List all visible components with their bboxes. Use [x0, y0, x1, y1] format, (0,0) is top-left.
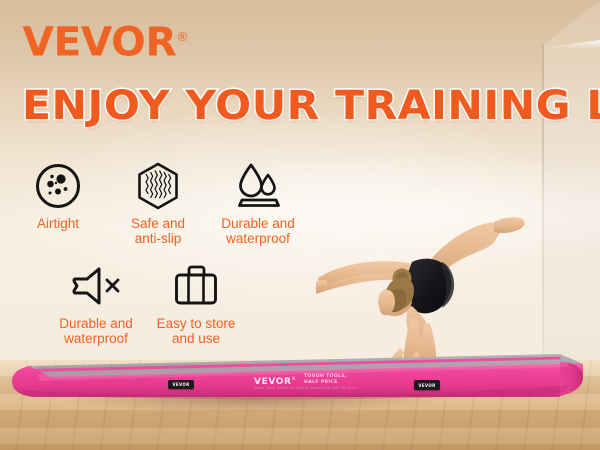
registered-trademark-icon: ® [176, 30, 188, 44]
feature-label: Easy to store and use [146, 316, 246, 346]
feature-row-2: Durable and waterproof Easy to store and… [0, 260, 320, 346]
mat-fine-print: Tough Tools, Half Price. Quality Product… [254, 386, 358, 390]
air-track-mat: VEVOR VEVOR VEVOR® TOUGH TOOLS, HALF PRI… [8, 352, 592, 408]
feature-list: Airtight [0, 160, 320, 346]
feature-label: Durable and waterproof [46, 316, 146, 346]
briefcase-icon [146, 260, 246, 312]
product-marketing-banner: VEVOR® ENJOY YOUR TRAINING LIFE [0, 0, 600, 450]
airtight-bubbles-icon [8, 160, 108, 212]
vevor-logo: VEVOR® [22, 17, 188, 62]
feature-easy-store: Easy to store and use [146, 260, 246, 346]
water-droplets-icon [208, 160, 308, 212]
feature-label: Airtight [8, 216, 108, 231]
feature-label: Durable and waterproof [208, 216, 308, 246]
vevor-logo-text: VEVOR [22, 19, 176, 65]
feature-label: Safe and anti-slip [108, 216, 208, 246]
mat-label-tag-left: VEVOR [168, 380, 194, 389]
page-title: ENJOY YOUR TRAINING LIFE [22, 84, 600, 128]
feature-row-1: Airtight [0, 160, 320, 246]
mat-registered-icon: ® [292, 376, 297, 381]
feature-airtight: Airtight [8, 160, 108, 246]
feature-noise-free: Durable and waterproof [46, 260, 146, 346]
mat-tagline: TOUGH TOOLS, HALF PRICE [304, 374, 347, 385]
mat-label-tag-right: VEVOR [414, 380, 440, 390]
feature-waterproof: Durable and waterproof [208, 160, 308, 246]
hexagon-texture-icon [108, 160, 208, 212]
muted-speaker-icon [46, 260, 146, 312]
feature-anti-slip: Safe and anti-slip [108, 160, 208, 246]
